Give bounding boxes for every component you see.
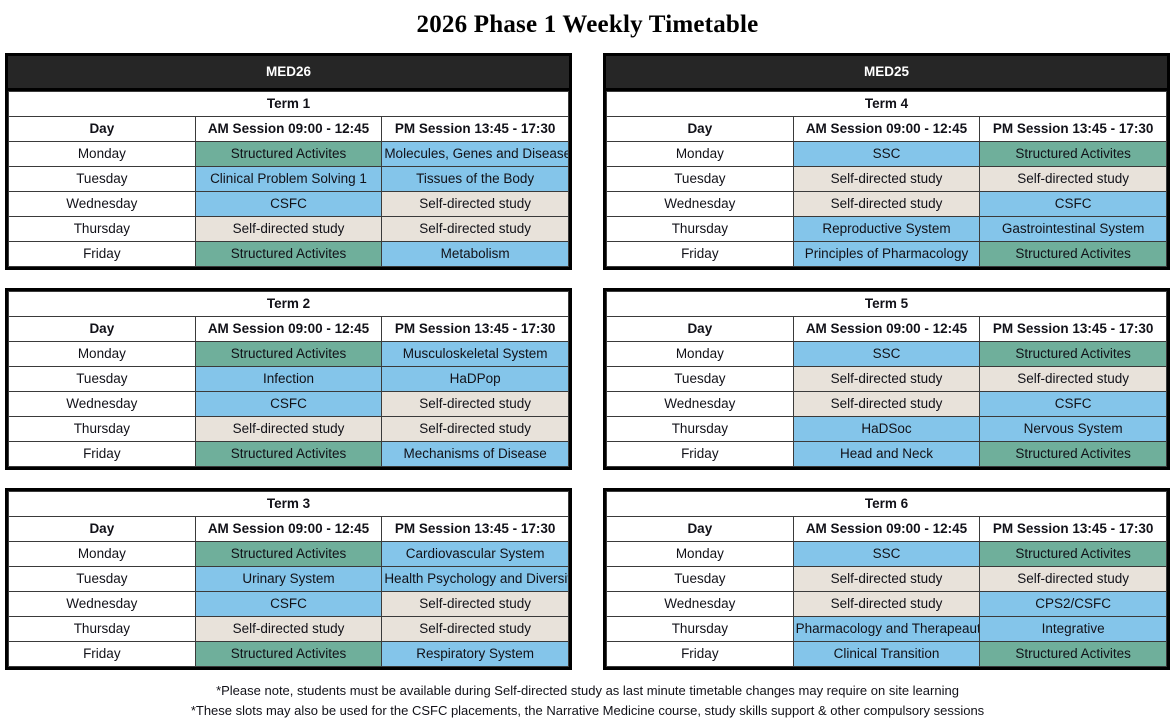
am-session-cell: Structured Activites [195, 442, 382, 467]
day-label: Tuesday [607, 167, 794, 192]
am-column-header: AM Session 09:00 - 12:45 [195, 317, 382, 342]
footnote-line: *Please note, students must be available… [0, 681, 1175, 701]
term-table: Term 4DayAM Session 09:00 - 12:45PM Sess… [606, 91, 1167, 267]
table-row: FridayStructured ActivitesMechanisms of … [9, 442, 569, 467]
pm-session-cell: Gastrointestinal System [980, 217, 1167, 242]
day-label: Thursday [607, 417, 794, 442]
term-name-row: Term 2 [9, 292, 569, 317]
day-column-header: Day [9, 517, 196, 542]
table-row: TuesdaySelf-directed studySelf-directed … [607, 567, 1167, 592]
table-row: TuesdaySelf-directed studySelf-directed … [607, 367, 1167, 392]
am-column-header: AM Session 09:00 - 12:45 [195, 517, 382, 542]
pm-session-cell: CSFC [980, 192, 1167, 217]
pm-session-cell: Molecules, Genes and Disease [382, 142, 569, 167]
table-row: WednesdayCSFCSelf-directed study [9, 192, 569, 217]
table-row: MondaySSCStructured Activites [607, 342, 1167, 367]
am-session-cell: Self-directed study [793, 592, 980, 617]
pm-session-cell: Structured Activites [980, 442, 1167, 467]
table-row: ThursdayHaDSocNervous System [607, 417, 1167, 442]
am-session-cell: CSFC [195, 392, 382, 417]
day-label: Tuesday [9, 167, 196, 192]
term-block: Term 3DayAM Session 09:00 - 12:45PM Sess… [5, 488, 572, 670]
table-row: WednesdayCSFCSelf-directed study [9, 392, 569, 417]
am-session-cell: Self-directed study [195, 217, 382, 242]
day-column-header: Day [607, 517, 794, 542]
cohort-header: MED26 [8, 56, 569, 91]
term-name: Term 3 [9, 492, 569, 517]
pm-session-cell: Health Psychology and Diversity [382, 567, 569, 592]
pm-session-cell: CPS2/CSFC [980, 592, 1167, 617]
table-row: WednesdaySelf-directed studyCSFC [607, 192, 1167, 217]
am-session-cell: SSC [793, 342, 980, 367]
am-column-header: AM Session 09:00 - 12:45 [793, 317, 980, 342]
am-session-cell: Self-directed study [195, 617, 382, 642]
am-session-cell: CSFC [195, 192, 382, 217]
term-name-row: Term 3 [9, 492, 569, 517]
am-session-cell: Clinical Transition [793, 642, 980, 667]
footnote-line: *These slots may also be used for the CS… [0, 701, 1175, 721]
term-table: Term 1DayAM Session 09:00 - 12:45PM Sess… [8, 91, 569, 267]
term-block: MED26Term 1DayAM Session 09:00 - 12:45PM… [5, 53, 572, 270]
table-row: MondayStructured ActivitesMusculoskeleta… [9, 342, 569, 367]
am-session-cell: Structured Activites [195, 642, 382, 667]
am-session-cell: Head and Neck [793, 442, 980, 467]
column-header-row: DayAM Session 09:00 - 12:45PM Session 13… [9, 117, 569, 142]
table-row: WednesdayCSFCSelf-directed study [9, 592, 569, 617]
pm-session-cell: Musculoskeletal System [382, 342, 569, 367]
table-row: FridayHead and NeckStructured Activites [607, 442, 1167, 467]
pm-column-header: PM Session 13:45 - 17:30 [980, 517, 1167, 542]
day-label: Tuesday [9, 567, 196, 592]
day-label: Thursday [9, 417, 196, 442]
day-label: Friday [607, 642, 794, 667]
day-label: Wednesday [607, 192, 794, 217]
pm-column-header: PM Session 13:45 - 17:30 [382, 117, 569, 142]
pm-session-cell: Structured Activites [980, 342, 1167, 367]
table-row: ThursdaySelf-directed studySelf-directed… [9, 417, 569, 442]
pm-session-cell: Self-directed study [382, 592, 569, 617]
am-session-cell: CSFC [195, 592, 382, 617]
term-table: Term 2DayAM Session 09:00 - 12:45PM Sess… [8, 291, 569, 467]
day-label: Thursday [9, 617, 196, 642]
pm-session-cell: Self-directed study [382, 392, 569, 417]
day-label: Monday [607, 142, 794, 167]
column-header-row: DayAM Session 09:00 - 12:45PM Session 13… [9, 517, 569, 542]
term-name-row: Term 6 [607, 492, 1167, 517]
table-row: TuesdayClinical Problem Solving 1Tissues… [9, 167, 569, 192]
day-label: Wednesday [9, 592, 196, 617]
term-table: Term 3DayAM Session 09:00 - 12:45PM Sess… [8, 491, 569, 667]
table-row: FridayStructured ActivitesMetabolism [9, 242, 569, 267]
pm-session-cell: Tissues of the Body [382, 167, 569, 192]
day-label: Tuesday [9, 367, 196, 392]
pm-session-cell: Self-directed study [382, 217, 569, 242]
day-label: Monday [9, 342, 196, 367]
footnotes: *Please note, students must be available… [0, 670, 1175, 721]
am-session-cell: Structured Activites [195, 242, 382, 267]
term-table: Term 6DayAM Session 09:00 - 12:45PM Sess… [606, 491, 1167, 667]
day-label: Monday [9, 542, 196, 567]
term-name-row: Term 5 [607, 292, 1167, 317]
day-column-header: Day [607, 117, 794, 142]
term-name: Term 6 [607, 492, 1167, 517]
table-row: WednesdaySelf-directed studyCSFC [607, 392, 1167, 417]
am-session-cell: Self-directed study [793, 367, 980, 392]
table-row: ThursdayReproductive SystemGastrointesti… [607, 217, 1167, 242]
table-row: ThursdaySelf-directed studySelf-directed… [9, 617, 569, 642]
day-label: Tuesday [607, 567, 794, 592]
day-label: Tuesday [607, 367, 794, 392]
day-label: Monday [9, 142, 196, 167]
am-session-cell: Self-directed study [195, 417, 382, 442]
pm-session-cell: Self-directed study [980, 167, 1167, 192]
am-session-cell: HaDSoc [793, 417, 980, 442]
day-label: Monday [607, 542, 794, 567]
timetable-columns: MED26Term 1DayAM Session 09:00 - 12:45PM… [0, 53, 1175, 670]
table-row: ThursdaySelf-directed studySelf-directed… [9, 217, 569, 242]
day-label: Wednesday [607, 592, 794, 617]
am-session-cell: Structured Activites [195, 542, 382, 567]
pm-session-cell: Self-directed study [382, 192, 569, 217]
am-session-cell: SSC [793, 142, 980, 167]
day-label: Monday [607, 342, 794, 367]
day-label: Thursday [607, 617, 794, 642]
day-label: Wednesday [9, 192, 196, 217]
am-session-cell: Clinical Problem Solving 1 [195, 167, 382, 192]
cohort-column-left: MED26Term 1DayAM Session 09:00 - 12:45PM… [5, 53, 572, 670]
term-block: Term 5DayAM Session 09:00 - 12:45PM Sess… [603, 288, 1170, 470]
day-label: Friday [9, 242, 196, 267]
pm-session-cell: Structured Activites [980, 242, 1167, 267]
table-row: FridayStructured ActivitesRespiratory Sy… [9, 642, 569, 667]
day-label: Thursday [9, 217, 196, 242]
day-label: Friday [9, 442, 196, 467]
table-row: FridayPrinciples of PharmacologyStructur… [607, 242, 1167, 267]
timetable-page: 2026 Phase 1 Weekly Timetable MED26Term … [0, 0, 1175, 718]
am-session-cell: Structured Activites [195, 342, 382, 367]
am-column-header: AM Session 09:00 - 12:45 [195, 117, 382, 142]
column-header-row: DayAM Session 09:00 - 12:45PM Session 13… [607, 517, 1167, 542]
am-session-cell: Pharmacology and Therapeautics [793, 617, 980, 642]
am-column-header: AM Session 09:00 - 12:45 [793, 517, 980, 542]
am-session-cell: Urinary System [195, 567, 382, 592]
day-column-header: Day [9, 317, 196, 342]
am-session-cell: Self-directed study [793, 192, 980, 217]
table-row: WednesdaySelf-directed studyCPS2/CSFC [607, 592, 1167, 617]
term-name-row: Term 1 [9, 92, 569, 117]
table-row: TuesdayInfectionHaDPop [9, 367, 569, 392]
day-column-header: Day [607, 317, 794, 342]
pm-session-cell: Self-directed study [382, 417, 569, 442]
cohort-header: MED25 [606, 56, 1167, 91]
pm-session-cell: Self-directed study [382, 617, 569, 642]
day-label: Friday [9, 642, 196, 667]
am-column-header: AM Session 09:00 - 12:45 [793, 117, 980, 142]
pm-column-header: PM Session 13:45 - 17:30 [980, 117, 1167, 142]
term-name: Term 1 [9, 92, 569, 117]
table-row: MondayStructured ActivitesCardiovascular… [9, 542, 569, 567]
table-row: FridayClinical TransitionStructured Acti… [607, 642, 1167, 667]
am-session-cell: Self-directed study [793, 167, 980, 192]
term-name: Term 2 [9, 292, 569, 317]
am-session-cell: Self-directed study [793, 392, 980, 417]
table-row: TuesdaySelf-directed studySelf-directed … [607, 167, 1167, 192]
pm-session-cell: Self-directed study [980, 367, 1167, 392]
page-title: 2026 Phase 1 Weekly Timetable [0, 0, 1175, 37]
pm-column-header: PM Session 13:45 - 17:30 [382, 317, 569, 342]
table-row: TuesdayUrinary SystemHealth Psychology a… [9, 567, 569, 592]
pm-session-cell: Self-directed study [980, 567, 1167, 592]
pm-session-cell: Structured Activites [980, 642, 1167, 667]
am-session-cell: Self-directed study [793, 567, 980, 592]
term-name-row: Term 4 [607, 92, 1167, 117]
pm-session-cell: Metabolism [382, 242, 569, 267]
pm-column-header: PM Session 13:45 - 17:30 [980, 317, 1167, 342]
day-column-header: Day [9, 117, 196, 142]
day-label: Thursday [607, 217, 794, 242]
day-label: Friday [607, 442, 794, 467]
am-session-cell: Reproductive System [793, 217, 980, 242]
pm-session-cell: Integrative [980, 617, 1167, 642]
pm-session-cell: Cardiovascular System [382, 542, 569, 567]
am-session-cell: Principles of Pharmacology [793, 242, 980, 267]
pm-session-cell: Nervous System [980, 417, 1167, 442]
column-header-row: DayAM Session 09:00 - 12:45PM Session 13… [607, 317, 1167, 342]
pm-session-cell: Respiratory System [382, 642, 569, 667]
table-row: ThursdayPharmacology and TherapeauticsIn… [607, 617, 1167, 642]
pm-session-cell: Mechanisms of Disease [382, 442, 569, 467]
pm-session-cell: Structured Activites [980, 542, 1167, 567]
day-label: Wednesday [9, 392, 196, 417]
term-block: Term 2DayAM Session 09:00 - 12:45PM Sess… [5, 288, 572, 470]
day-label: Wednesday [607, 392, 794, 417]
term-block: MED25Term 4DayAM Session 09:00 - 12:45PM… [603, 53, 1170, 270]
table-row: MondaySSCStructured Activites [607, 142, 1167, 167]
table-row: MondayStructured ActivitesMolecules, Gen… [9, 142, 569, 167]
pm-session-cell: Structured Activites [980, 142, 1167, 167]
am-session-cell: SSC [793, 542, 980, 567]
column-header-row: DayAM Session 09:00 - 12:45PM Session 13… [9, 317, 569, 342]
cohort-column-right: MED25Term 4DayAM Session 09:00 - 12:45PM… [603, 53, 1170, 670]
term-name: Term 4 [607, 92, 1167, 117]
pm-session-cell: CSFC [980, 392, 1167, 417]
table-row: MondaySSCStructured Activites [607, 542, 1167, 567]
day-label: Friday [607, 242, 794, 267]
am-session-cell: Structured Activites [195, 142, 382, 167]
term-block: Term 6DayAM Session 09:00 - 12:45PM Sess… [603, 488, 1170, 670]
term-table: Term 5DayAM Session 09:00 - 12:45PM Sess… [606, 291, 1167, 467]
pm-session-cell: HaDPop [382, 367, 569, 392]
column-header-row: DayAM Session 09:00 - 12:45PM Session 13… [607, 117, 1167, 142]
am-session-cell: Infection [195, 367, 382, 392]
term-name: Term 5 [607, 292, 1167, 317]
pm-column-header: PM Session 13:45 - 17:30 [382, 517, 569, 542]
